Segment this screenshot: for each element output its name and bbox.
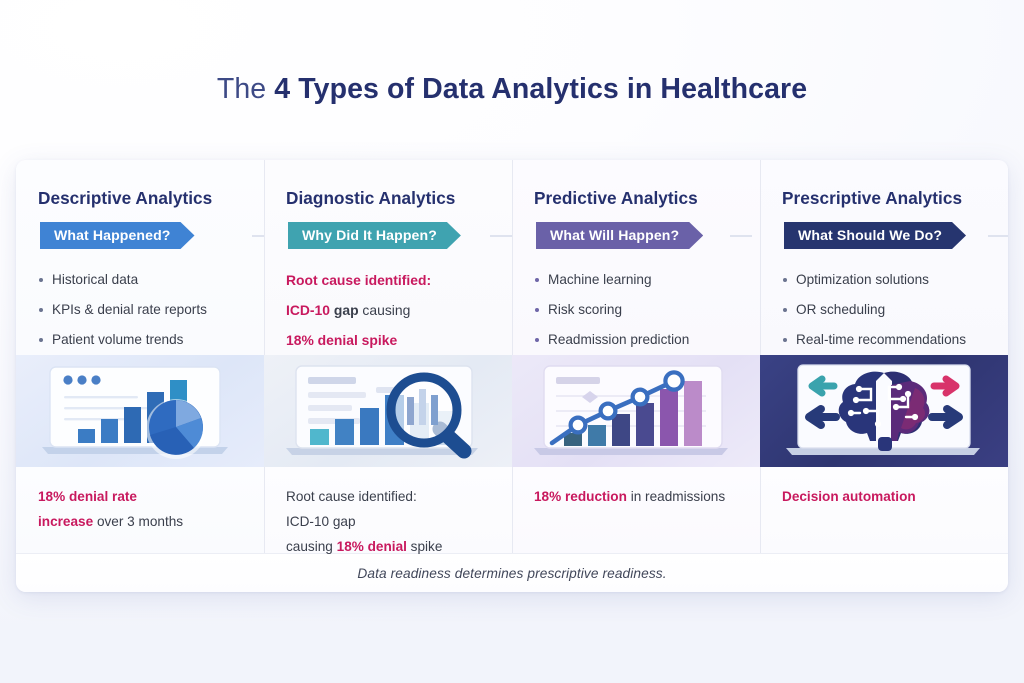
- dashboard-bar-pie-chart-icon: [16, 355, 264, 467]
- column-prescriptive: Prescriptive Analytics What Should We Do…: [760, 160, 1008, 553]
- list-item: Risk scoring: [534, 295, 740, 325]
- analytics-comparison-card: Descriptive Analytics What Happened? His…: [16, 160, 1008, 592]
- badge-tail-line: [730, 235, 752, 237]
- caption-line: 18% denial rate: [38, 484, 246, 509]
- list-item: Machine learning: [534, 265, 740, 295]
- column-title: Prescriptive Analytics: [782, 188, 988, 209]
- columns-grid: Descriptive Analytics What Happened? His…: [16, 160, 1008, 553]
- list-item: Optimization solutions: [782, 265, 988, 295]
- text-plain: ICD-10 gap: [286, 514, 356, 529]
- illustration-magnifying-glass-bar-chart-icon: [264, 355, 512, 467]
- illustration-dashboard-bar-pie-chart-icon: [16, 355, 264, 467]
- caption-predictive: 18% reduction in readmissions: [512, 467, 760, 553]
- question-badge-descriptive: What Happened?: [40, 222, 195, 249]
- badge-tail-line: [490, 235, 512, 237]
- caption-line: Root cause identified:: [286, 484, 494, 509]
- callout-line: ICD-10 gap causing: [286, 295, 492, 325]
- text-highlight: 18% denial rate: [38, 489, 137, 504]
- column-title: Diagnostic Analytics: [286, 188, 492, 209]
- text-highlight: 18% denial: [337, 539, 407, 554]
- page-title: The 4 Types of Data Analytics in Healthc…: [217, 73, 807, 106]
- text-highlight: 18% reduction: [534, 489, 627, 504]
- text-highlight: 18% denial spike: [286, 332, 397, 348]
- caption-descriptive: 18% denial rateincrease over 3 months: [16, 467, 264, 553]
- text-highlight: gap: [334, 302, 359, 318]
- column-header-diagnostic: Diagnostic Analytics Why Did It Happen? …: [264, 160, 512, 355]
- callout-line: Root cause identified:: [286, 265, 492, 295]
- badge-tail-line: [988, 235, 1008, 237]
- brain-decision-arrows-icon: [760, 355, 1008, 467]
- bullet-list-prescriptive: Optimization solutionsOR schedulingReal-…: [782, 265, 988, 355]
- caption-line: increase over 3 months: [38, 509, 246, 534]
- column-header-descriptive: Descriptive Analytics What Happened? His…: [16, 160, 264, 355]
- text-highlight: Decision automation: [782, 489, 916, 504]
- magnifying-glass-bar-chart-icon: [264, 355, 512, 467]
- badge-row: What Should We Do?: [782, 222, 988, 249]
- list-item: Real-time recommendations: [782, 325, 988, 355]
- caption-line: causing 18% denial spike: [286, 534, 494, 559]
- list-item: Patient volume trends: [38, 325, 244, 355]
- callout-line: 18% denial spike: [286, 325, 492, 355]
- column-diagnostic: Diagnostic Analytics Why Did It Happen? …: [264, 160, 512, 553]
- list-item: Historical data: [38, 265, 244, 295]
- trend-line-bar-chart-icon: [512, 355, 760, 467]
- column-header-prescriptive: Prescriptive Analytics What Should We Do…: [760, 160, 1008, 355]
- badge-row: What Will Happen?: [534, 222, 740, 249]
- illustration-trend-line-bar-chart-icon: [512, 355, 760, 467]
- caption-line: ICD-10 gap: [286, 509, 494, 534]
- text-highlight: increase: [38, 514, 93, 529]
- badge-row: Why Did It Happen?: [286, 222, 492, 249]
- text-plain: causing: [286, 539, 337, 554]
- list-item: OR scheduling: [782, 295, 988, 325]
- column-title: Descriptive Analytics: [38, 188, 244, 209]
- text-plain: Root cause identified:: [286, 489, 417, 504]
- text-plain: causing: [359, 302, 411, 318]
- badge-row: What Happened?: [38, 222, 244, 249]
- text-highlight: ICD-10: [286, 302, 334, 318]
- column-predictive: Predictive Analytics What Will Happen? M…: [512, 160, 760, 553]
- question-badge-prescriptive: What Should We Do?: [784, 222, 966, 249]
- caption-prescriptive: Decision automation: [760, 467, 1008, 553]
- text-highlight: Root cause identified:: [286, 272, 431, 288]
- caption-line: 18% reduction in readmissions: [534, 484, 742, 509]
- footer-note-area: Data readiness determines prescriptive r…: [16, 553, 1008, 592]
- page-title-lead: The: [217, 73, 274, 105]
- page-title-area: The 4 Types of Data Analytics in Healthc…: [0, 0, 1024, 155]
- illustration-brain-decision-arrows-icon: [760, 355, 1008, 467]
- text-plain: in readmissions: [627, 489, 725, 504]
- bullet-list-predictive: Machine learningRisk scoringReadmission …: [534, 265, 740, 355]
- question-badge-diagnostic: Why Did It Happen?: [288, 222, 461, 249]
- caption-diagnostic: Root cause identified:ICD-10 gapcausing …: [264, 467, 512, 553]
- bullet-list-descriptive: Historical dataKPIs & denial rate report…: [38, 265, 244, 355]
- column-descriptive: Descriptive Analytics What Happened? His…: [16, 160, 264, 553]
- text-plain: spike: [407, 539, 443, 554]
- page-title-emphasis: 4 Types of Data Analytics in Healthcare: [274, 73, 807, 105]
- list-item: KPIs & denial rate reports: [38, 295, 244, 325]
- footer-note: Data readiness determines prescriptive r…: [357, 566, 666, 581]
- caption-line: Decision automation: [782, 484, 990, 509]
- text-plain: over 3 months: [93, 514, 183, 529]
- column-title: Predictive Analytics: [534, 188, 740, 209]
- question-badge-predictive: What Will Happen?: [536, 222, 703, 249]
- list-item: Readmission prediction: [534, 325, 740, 355]
- column-header-predictive: Predictive Analytics What Will Happen? M…: [512, 160, 760, 355]
- root-cause-callout: Root cause identified:ICD-10 gap causing…: [286, 265, 492, 355]
